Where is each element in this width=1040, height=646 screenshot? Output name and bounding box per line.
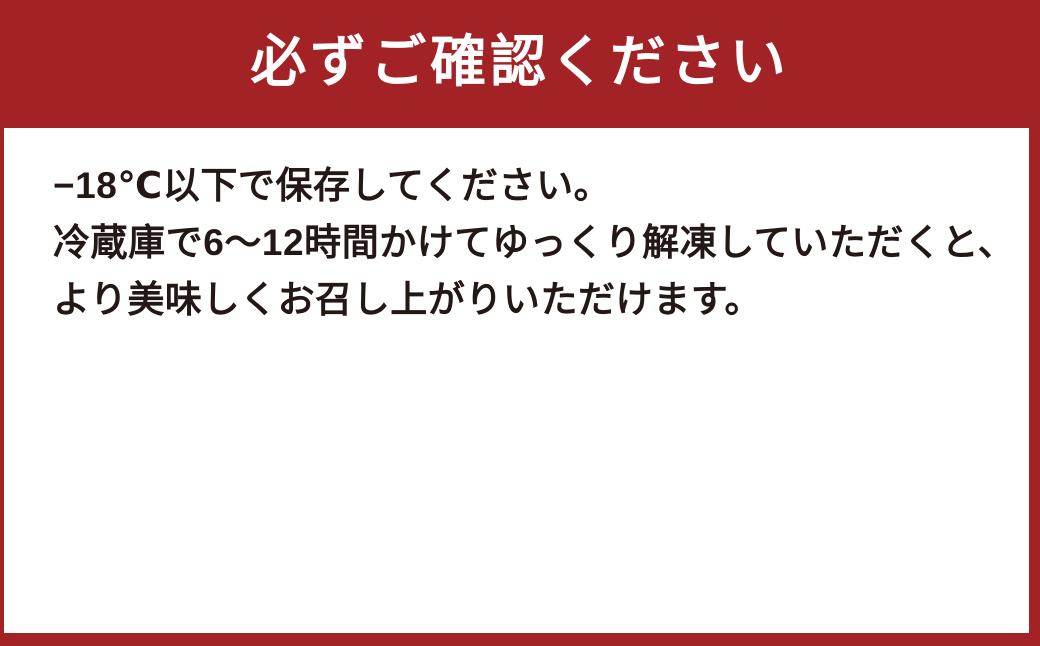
- frame-border-bottom: [0, 633, 1040, 646]
- instruction-line: より美味しくお召し上がりいただけます。: [53, 271, 1013, 328]
- storage-instructions-notice: 必ずご確認ください −18℃以下で保存してください。 冷蔵庫で6〜12時間かけて…: [0, 0, 1040, 646]
- instruction-list: −18℃以下で保存してください。 冷蔵庫で6〜12時間かけてゆっくり解凍していた…: [53, 157, 1013, 328]
- page-title: 必ずご確認ください: [250, 34, 789, 94]
- instruction-line: 冷蔵庫で6〜12時間かけてゆっくり解凍していただくと、: [53, 214, 1013, 271]
- instruction-line: −18℃以下で保存してください。: [53, 157, 1013, 214]
- frame-border-right: [1029, 128, 1040, 646]
- notice-header-band: 必ずご確認ください: [0, 0, 1040, 128]
